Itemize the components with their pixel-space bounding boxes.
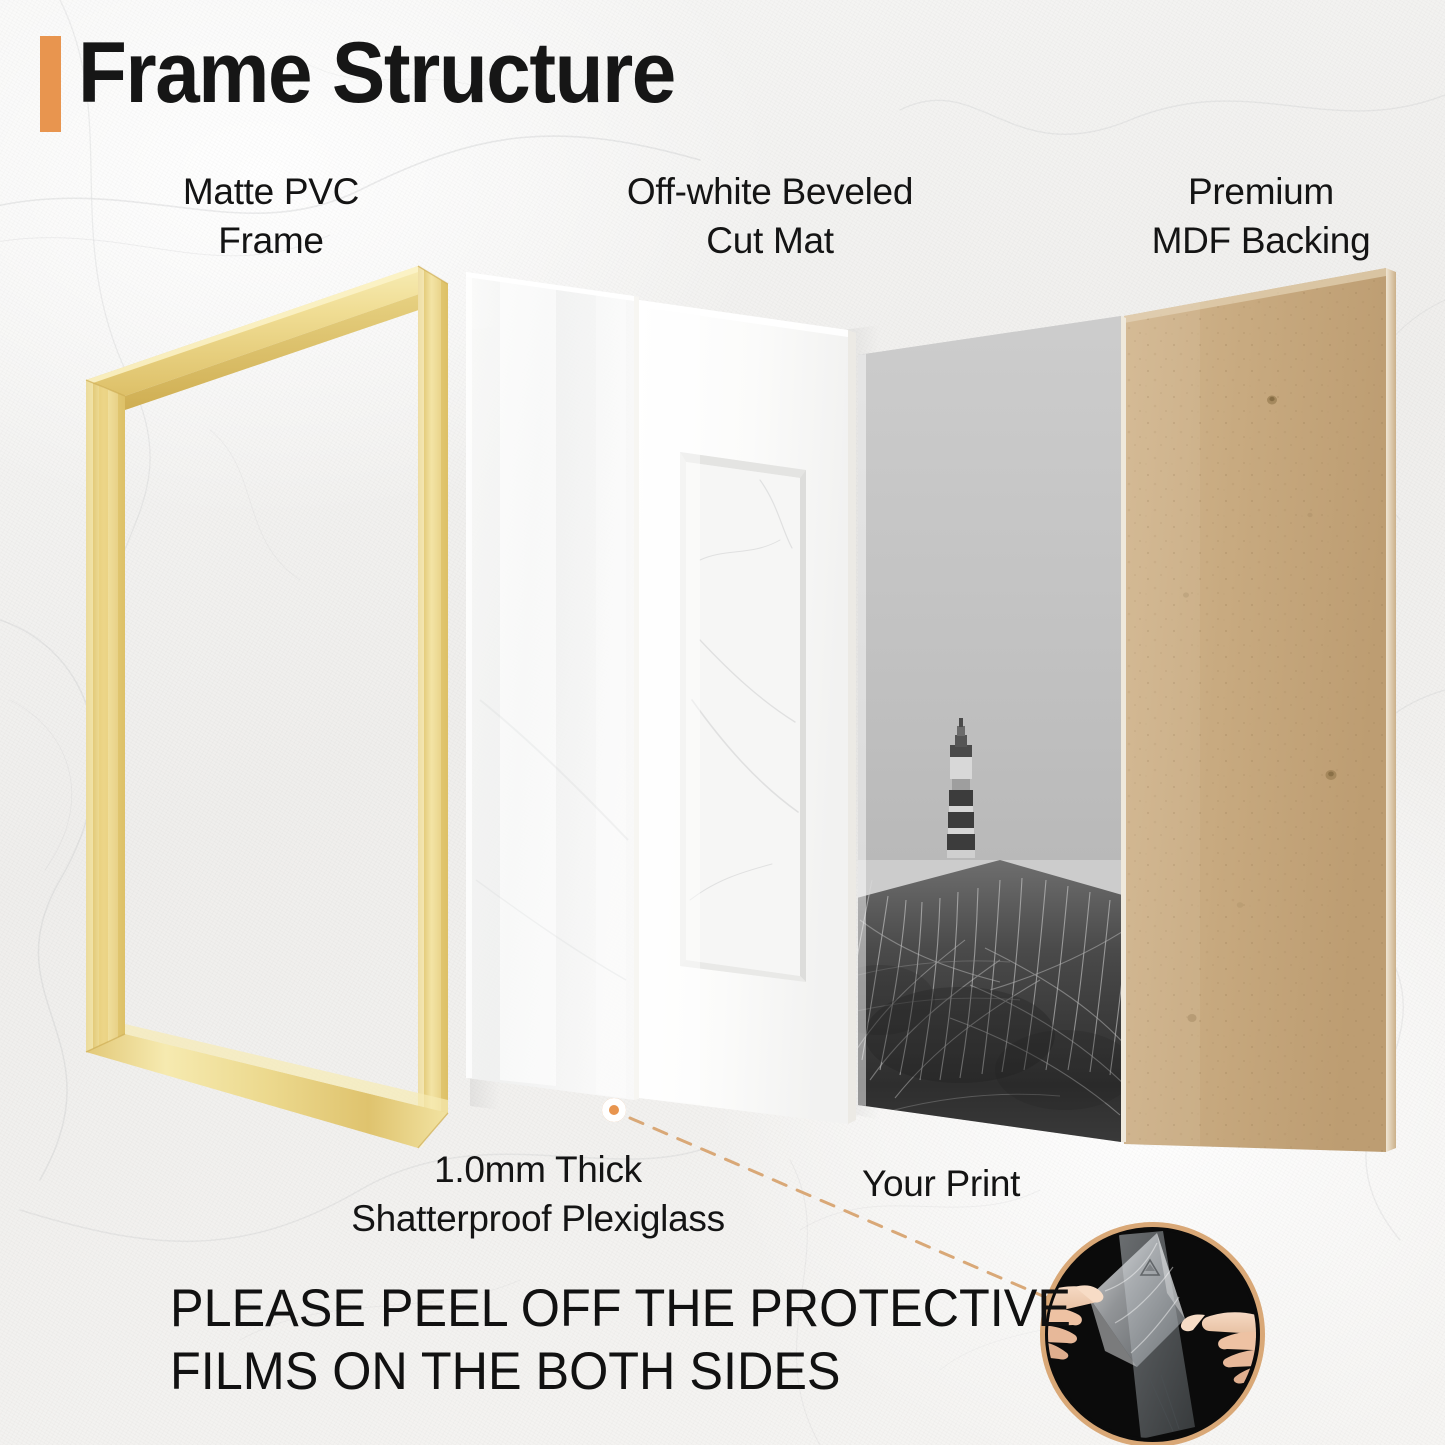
banner-line-1: PLEASE PEEL OFF THE PROTECTIVE bbox=[170, 1278, 1025, 1341]
bottom-banner: PLEASE PEEL OFF THE PROTECTIVE FILMS ON … bbox=[170, 1278, 1070, 1403]
banner-line-2: FILMS ON THE BOTH SIDES bbox=[170, 1341, 1025, 1404]
peel-film-inset-photo bbox=[1040, 1222, 1265, 1445]
callout-dot-marker bbox=[602, 1098, 626, 1122]
infographic-page: Frame Structure bbox=[0, 0, 1445, 1445]
callout-leader-line bbox=[0, 0, 1445, 1445]
